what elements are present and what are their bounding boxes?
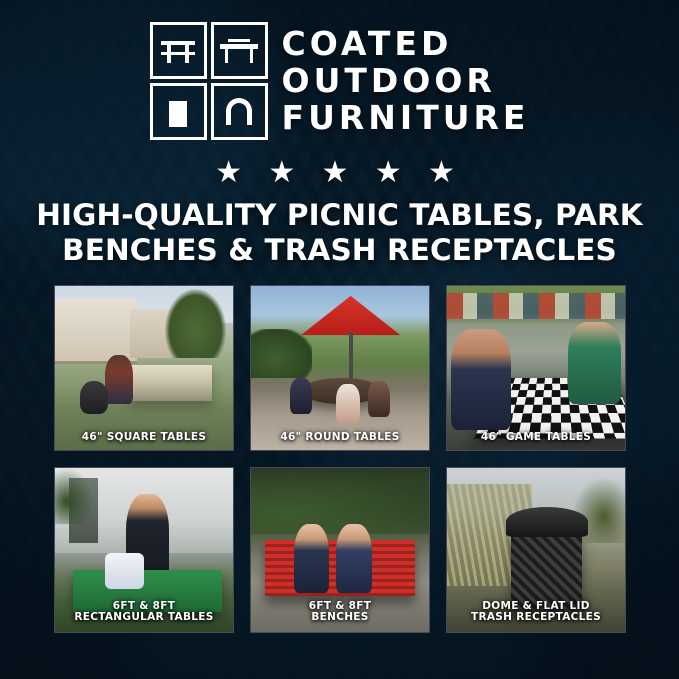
product-caption: 46" SQUARE TABLES (55, 427, 233, 450)
square-tables-photo (55, 286, 233, 450)
product-tile-trash-receptacles[interactable]: DOME & FLAT LID TRASH RECEPTACLES (446, 467, 626, 633)
round-tables-photo (251, 286, 429, 450)
product-caption-line-1: 46" SQUARE TABLES (59, 432, 229, 444)
product-tile-square-tables[interactable]: 46" SQUARE TABLES (54, 285, 234, 451)
product-grid: 46" SQUARE TABLES 46" ROUND TABLES 46" G… (54, 285, 626, 633)
product-caption: 46" ROUND TABLES (251, 427, 429, 450)
picnic-table-icon (150, 22, 207, 79)
game-tables-photo (447, 286, 625, 450)
product-caption-line-1: 46" GAME TABLES (451, 432, 621, 444)
arch-bench-icon (211, 83, 268, 140)
park-bench-glyph (214, 25, 265, 76)
product-tile-round-tables[interactable]: 46" ROUND TABLES (250, 285, 430, 451)
product-tile-benches[interactable]: 6FT & 8FT BENCHES (250, 467, 430, 633)
product-caption: 46" GAME TABLES (447, 427, 625, 450)
product-caption-line-1: 46" ROUND TABLES (255, 432, 425, 444)
product-tile-rectangular-tables[interactable]: 6FT & 8FT RECTANGULAR TABLES (54, 467, 234, 633)
arch-bench-glyph (214, 86, 265, 137)
picnic-table-glyph (153, 25, 204, 76)
headline-line-2: BENCHES & TRASH RECEPTACLES (30, 233, 649, 268)
brand-logo: COATED OUTDOOR FURNITURE (0, 22, 679, 140)
logo-wordmark: COATED OUTDOOR FURNITURE (282, 28, 530, 135)
product-caption: 6FT & 8FT RECTANGULAR TABLES (55, 596, 233, 631)
product-caption: 6FT & 8FT BENCHES (251, 596, 429, 631)
logo-mark (150, 22, 268, 140)
product-caption-line-2: TRASH RECEPTACLES (451, 612, 621, 624)
rating-stars: ★ ★ ★ ★ ★ (0, 158, 679, 188)
headline-line-1: HIGH-QUALITY PICNIC TABLES, PARK (30, 198, 649, 233)
product-caption: DOME & FLAT LID TRASH RECEPTACLES (447, 596, 625, 631)
poster-content: COATED OUTDOOR FURNITURE ★ ★ ★ ★ ★ HIGH-… (0, 0, 679, 679)
logo-line-1: COATED (282, 28, 530, 60)
trash-receptacle-glyph (153, 86, 204, 137)
page-title: HIGH-QUALITY PICNIC TABLES, PARK BENCHES… (30, 198, 649, 268)
product-tile-game-tables[interactable]: 46" GAME TABLES (446, 285, 626, 451)
product-caption-line-2: BENCHES (255, 612, 425, 624)
park-bench-icon (211, 22, 268, 79)
trash-receptacle-icon (150, 83, 207, 140)
logo-line-2: OUTDOOR (282, 65, 530, 97)
product-poster: COATED OUTDOOR FURNITURE ★ ★ ★ ★ ★ HIGH-… (0, 0, 679, 679)
logo-line-3: FURNITURE (282, 102, 530, 134)
product-caption-line-2: RECTANGULAR TABLES (59, 612, 229, 624)
